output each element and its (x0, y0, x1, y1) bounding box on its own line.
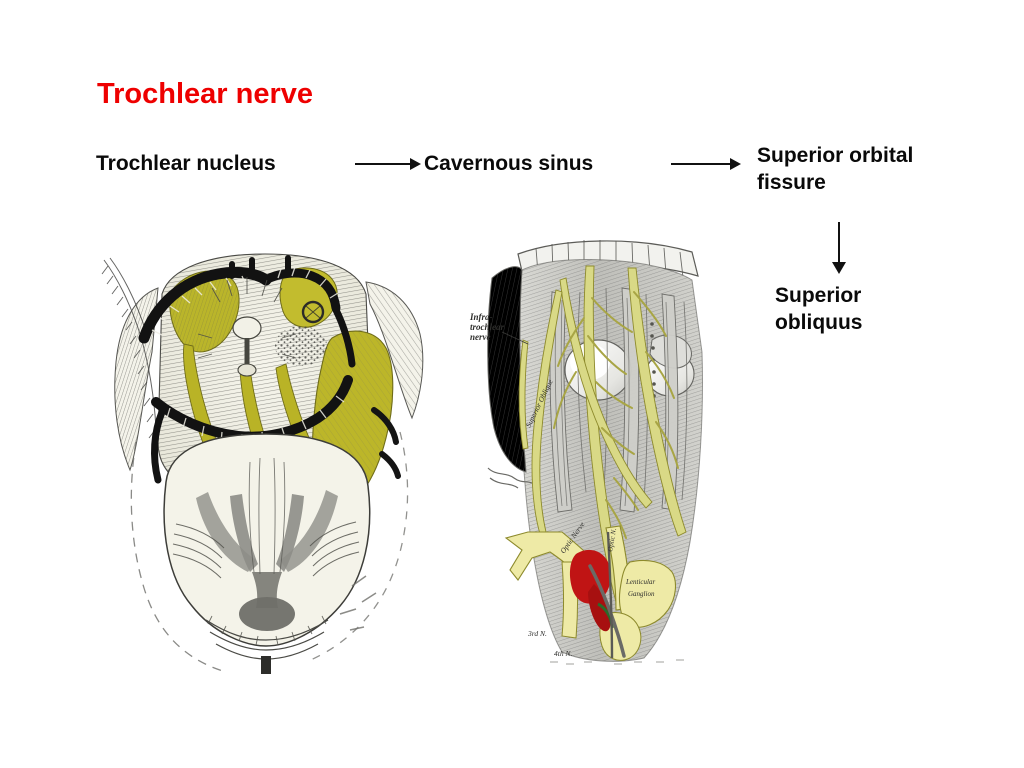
pathway-step-superior-obliquus: Superior obliquus (775, 282, 975, 337)
svg-text:Ganglion: Ganglion (628, 590, 655, 598)
orbit-dissection-figure: Infra- trochlear nerve Superior Oblique … (466, 232, 712, 672)
arrow-head (410, 158, 421, 170)
svg-text:nerve: nerve (470, 332, 491, 342)
figure-label-infratrochlear-nerve: Infra- (469, 312, 493, 322)
pathway-step-superior-orbital-fissure: Superior orbital fissure (757, 142, 997, 197)
figure-label-lenticular-ganglion: Lenticular (625, 578, 655, 586)
page-title: Trochlear nerve (97, 78, 313, 111)
pathway-step-trochlear-nucleus: Trochlear nucleus (96, 150, 276, 177)
arrow-head (832, 262, 846, 274)
figure-label-third-nerve: 3rd N. (527, 629, 547, 638)
brainstem-cranial-nerves-figure (100, 242, 430, 674)
arrow-right-icon (355, 157, 421, 171)
pathway-step-cavernous-sinus: Cavernous sinus (424, 150, 593, 177)
arrow-shaft (838, 222, 840, 264)
arrow-down-icon (831, 222, 847, 274)
arrow-shaft (355, 163, 411, 165)
svg-text:trochlear: trochlear (470, 322, 504, 332)
arrow-head (730, 158, 741, 170)
figure-label-fourth-nerve: 4th N. (554, 649, 572, 658)
arrow-shaft (671, 163, 731, 165)
slide-canvas: Trochlear nerve Trochlear nucleus Cavern… (0, 0, 1024, 768)
arrow-right-icon (671, 157, 741, 171)
